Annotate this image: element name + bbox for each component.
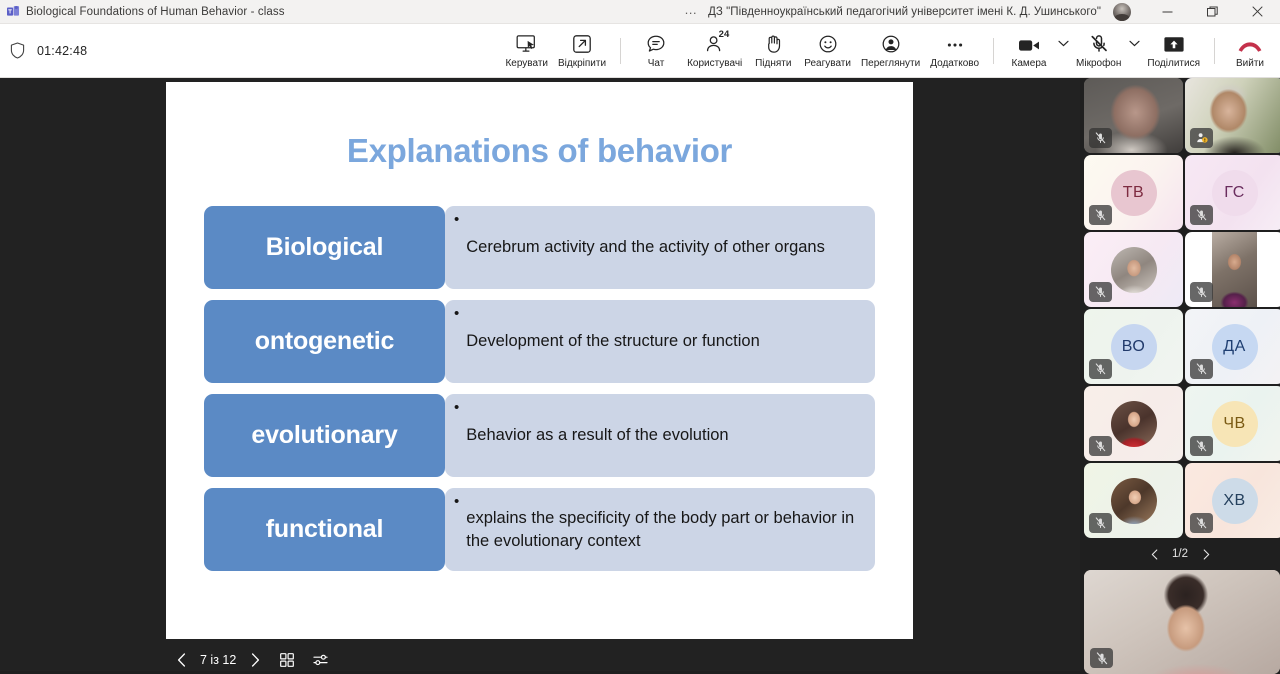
more-button[interactable]: Додатково: [925, 26, 984, 76]
slide-row-value-text: Cerebrum activity and the activity of ot…: [466, 236, 825, 259]
meeting-timer: 01:42:48: [37, 44, 87, 58]
bullet-icon: •: [454, 302, 459, 326]
next-slide-button[interactable]: [240, 648, 270, 672]
title-bar-overflow-icon[interactable]: …: [684, 5, 708, 19]
view-button[interactable]: Переглянути: [856, 26, 925, 76]
meeting-stage: Explanations of behavior Biological • Ce…: [0, 78, 1080, 671]
participants-count: 24: [719, 29, 730, 40]
share-screen-button[interactable]: Поділитися: [1142, 26, 1205, 76]
slide-title: Explanations of behavior: [166, 132, 913, 170]
camera-on-icon: [1018, 32, 1041, 54]
slide-row-key: ontogenetic: [204, 300, 445, 383]
participant-tile[interactable]: ГС: [1185, 155, 1280, 230]
slide-row-value: • explains the specificity of the body p…: [445, 488, 875, 571]
shield-icon: [6, 40, 28, 62]
hang-up-button[interactable]: Вийти: [1224, 26, 1276, 76]
toolbar-divider-2: [993, 38, 994, 64]
avatar-initials: ЧВ: [1212, 401, 1258, 447]
spotlight-video: [1084, 570, 1280, 674]
share-screen-icon: [1162, 32, 1186, 54]
grid-view-icon[interactable]: [270, 648, 304, 672]
toolbar-left-group: 01:42:48: [0, 40, 300, 62]
camera-options-chevron-down-icon[interactable]: [1055, 40, 1071, 61]
mic-muted-icon: [1089, 205, 1112, 225]
participant-tile-active-speaker[interactable]: [1185, 78, 1280, 153]
participant-video: [1212, 232, 1257, 307]
slide-row: Biological • Cerebrum activity and the a…: [204, 206, 875, 289]
avatar-initials: ГС: [1212, 170, 1258, 216]
microphone-button[interactable]: Мікрофон: [1071, 26, 1126, 76]
give-control-icon: [516, 32, 537, 54]
reactions-icon: [818, 32, 838, 54]
hang-up-label: Вийти: [1236, 57, 1264, 70]
slide-navigation: 7 із 12: [166, 648, 766, 672]
avatar-initials: ВО: [1111, 324, 1157, 370]
raise-hand-icon: [764, 32, 783, 54]
sliders-icon[interactable]: [304, 648, 338, 672]
participants-button[interactable]: 24 Користувачі: [682, 26, 747, 76]
avatar[interactable]: [1113, 3, 1131, 21]
slide-row: ontogenetic • Development of the structu…: [204, 300, 875, 383]
mic-muted-icon: [1190, 205, 1213, 225]
mic-muted-icon: [1089, 128, 1112, 148]
avatar-initials: ТВ: [1111, 170, 1157, 216]
participants-rail: ТВ ГС ВО: [1080, 78, 1280, 671]
participant-tile[interactable]: ЧВ: [1185, 386, 1280, 461]
close-button[interactable]: [1235, 0, 1280, 24]
slide-row-value-text: Behavior as a result of the evolution: [466, 424, 728, 447]
participant-tile[interactable]: [1084, 78, 1183, 153]
organization-name: ДЗ "Південноукраїнський педагогічий унів…: [708, 6, 1101, 18]
minimize-button[interactable]: [1145, 0, 1190, 24]
pop-out-label: Відкріпити: [558, 57, 606, 70]
mic-muted-icon: [1190, 513, 1213, 533]
spotlight-video-tile[interactable]: [1084, 570, 1280, 674]
slide-row-key: functional: [204, 488, 445, 571]
pop-out-icon: [572, 32, 592, 54]
mic-muted-icon: [1190, 359, 1213, 379]
participant-tile[interactable]: [1084, 232, 1183, 307]
slide-row-key: Biological: [204, 206, 445, 289]
participant-tile[interactable]: [1185, 232, 1280, 307]
roster-next-page-button[interactable]: [1198, 545, 1214, 563]
spotlight-indicator-icon: [1190, 128, 1213, 148]
give-control-label: Керувати: [505, 57, 548, 70]
slide-row-key: evolutionary: [204, 394, 445, 477]
pop-out-button[interactable]: Відкріпити: [553, 26, 611, 76]
participant-tile[interactable]: [1084, 386, 1183, 461]
window-title: Biological Foundations of Human Behavior…: [26, 6, 285, 18]
chat-label: Чат: [648, 57, 665, 70]
mic-muted-icon: [1190, 436, 1213, 456]
roster-pager: 1/2: [1080, 541, 1280, 567]
roster-page-label: 1/2: [1172, 548, 1188, 560]
raise-hand-label: Підняти: [755, 57, 791, 70]
slide-row: evolutionary • Behavior as a result of t…: [204, 394, 875, 477]
reactions-button[interactable]: Реагувати: [799, 26, 856, 76]
shared-slide: Explanations of behavior Biological • Ce…: [166, 82, 913, 639]
toolbar-divider-1: [620, 38, 621, 64]
bullet-icon: •: [454, 490, 459, 514]
reactions-label: Реагувати: [804, 57, 851, 70]
give-control-button[interactable]: Керувати: [500, 26, 553, 76]
mic-muted-icon: [1090, 648, 1113, 668]
camera-button[interactable]: Камера: [1003, 26, 1055, 76]
toolbar-divider-3: [1214, 38, 1215, 64]
participant-tile[interactable]: ТВ: [1084, 155, 1183, 230]
more-icon: [945, 32, 965, 54]
window-title-bar: Biological Foundations of Human Behavior…: [0, 0, 1280, 24]
participant-tile[interactable]: [1084, 463, 1183, 538]
avatar-photo: [1111, 401, 1157, 447]
previous-slide-button[interactable]: [166, 648, 196, 672]
slide-rows: Biological • Cerebrum activity and the a…: [204, 206, 875, 571]
more-label: Додатково: [930, 57, 979, 70]
meeting-toolbar: 01:42:48 Керувати Відкр: [0, 24, 1280, 78]
chat-button[interactable]: Чат: [630, 26, 682, 76]
slide-row-value-text: Development of the structure or function: [466, 330, 760, 353]
mic-muted-icon: [1089, 359, 1112, 379]
mic-muted-icon: [1089, 282, 1112, 302]
camera-label: Камера: [1012, 57, 1047, 70]
avatar-photo: [1111, 247, 1157, 293]
participant-tile[interactable]: ХВ: [1185, 463, 1280, 538]
roster-previous-page-button[interactable]: [1146, 545, 1162, 563]
slide-position-label: 7 із 12: [196, 653, 240, 667]
mic-muted-icon: [1190, 282, 1213, 302]
participant-tile[interactable]: ДА: [1185, 309, 1280, 384]
slide-row: functional • explains the specificity of…: [204, 488, 875, 571]
slide-row-value-text: explains the specificity of the body par…: [466, 507, 859, 553]
participant-tile[interactable]: ВО: [1084, 309, 1183, 384]
raise-hand-button[interactable]: Підняти: [747, 26, 799, 76]
share-screen-label: Поділитися: [1147, 57, 1200, 70]
avatar-initials: ХВ: [1212, 478, 1258, 524]
slide-row-value: • Development of the structure or functi…: [445, 300, 875, 383]
mic-muted-icon: [1089, 436, 1112, 456]
mic-muted-icon: [1089, 32, 1109, 54]
participants-grid: ТВ ГС ВО: [1080, 78, 1280, 538]
view-icon: [881, 32, 901, 54]
avatar-initials: ДА: [1212, 324, 1258, 370]
microphone-label: Мікрофон: [1076, 57, 1121, 70]
bullet-icon: •: [454, 396, 459, 420]
restore-button[interactable]: [1190, 0, 1235, 24]
bullet-icon: •: [454, 208, 459, 232]
participants-label: Користувачі: [687, 57, 742, 70]
avatar-photo: [1111, 478, 1157, 524]
mic-muted-icon: [1089, 513, 1112, 533]
microphone-options-chevron-down-icon[interactable]: [1126, 40, 1142, 61]
view-label: Переглянути: [861, 57, 920, 70]
slide-row-value: • Cerebrum activity and the activity of …: [445, 206, 875, 289]
toolbar-controls: Керувати Відкріпити Чат: [300, 26, 1280, 76]
slide-row-value: • Behavior as a result of the evolution: [445, 394, 875, 477]
chat-icon: [646, 32, 666, 54]
hang-up-icon: [1237, 32, 1263, 54]
teams-icon: [0, 0, 26, 24]
